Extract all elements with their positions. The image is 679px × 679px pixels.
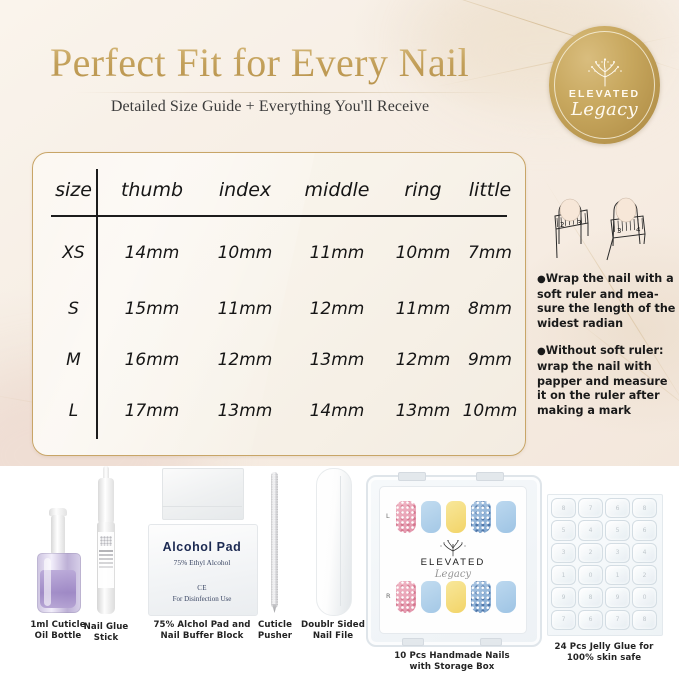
pusher-tip bbox=[272, 604, 277, 613]
bottle-gloss bbox=[44, 558, 51, 606]
cell-thumb: 16mm bbox=[109, 350, 195, 370]
nail-pink-floral bbox=[396, 581, 416, 613]
cell-middle: 12mm bbox=[291, 299, 383, 319]
size-chart-card: size thumb index middle ring little XS 1… bbox=[32, 152, 526, 456]
svg-text:2: 2 bbox=[560, 221, 564, 229]
size-table: size thumb index middle ring little XS 1… bbox=[33, 153, 525, 455]
box-interior: L bbox=[379, 486, 527, 634]
cell-ring: 13mm bbox=[387, 401, 459, 421]
nail-yellow bbox=[446, 581, 466, 613]
svg-text:3: 3 bbox=[617, 227, 621, 235]
row-label-left: L bbox=[386, 512, 390, 520]
svg-text:3: 3 bbox=[577, 219, 581, 227]
jelly-glue-tab: 5 bbox=[551, 520, 576, 540]
box-clip bbox=[402, 638, 424, 646]
jelly-glue-tab: 4 bbox=[632, 543, 657, 563]
column-header-little: little bbox=[457, 179, 523, 201]
table-row: XS 14mm 10mm 11mm 10mm 7mm bbox=[33, 228, 525, 278]
jelly-glue-tab: 3 bbox=[605, 543, 630, 563]
page-subtitle: Detailed Size Guide + Everything You'll … bbox=[0, 98, 540, 116]
cell-little: 9mm bbox=[457, 350, 523, 370]
nail-row-left bbox=[396, 501, 516, 533]
svg-text:4: 4 bbox=[636, 226, 641, 234]
product-jelly-glue-tabs: 876854563234101298907678 24 Pcs Jelly Gl… bbox=[539, 494, 669, 665]
botanical-sprig-icon bbox=[582, 57, 628, 87]
cell-thumb: 17mm bbox=[109, 401, 195, 421]
table-row: L 17mm 13mm 14mm 13mm 10mm bbox=[33, 386, 525, 436]
cell-index: 10mm bbox=[205, 243, 285, 263]
table-row: M 16mm 12mm 13mm 12mm 9mm bbox=[33, 335, 525, 385]
cell-middle: 11mm bbox=[291, 243, 383, 263]
jelly-glue-tab: 1 bbox=[605, 565, 630, 585]
cell-size: L bbox=[51, 401, 96, 421]
cell-middle: 13mm bbox=[291, 350, 383, 370]
file-body bbox=[316, 468, 352, 616]
bullet-dot-icon: ● bbox=[537, 346, 546, 357]
box-hinge bbox=[476, 472, 504, 481]
caption-line-2: 100% skin safe bbox=[567, 653, 641, 663]
column-header-size: size bbox=[51, 179, 96, 201]
cell-index: 11mm bbox=[205, 299, 285, 319]
bullet-2-line-3: papper and measure bbox=[537, 375, 668, 388]
box-clip bbox=[480, 638, 502, 646]
column-header-index: index bbox=[205, 179, 285, 201]
jelly-glue-tab: 6 bbox=[605, 498, 630, 518]
nail-light-blue bbox=[421, 581, 441, 613]
cell-thumb: 15mm bbox=[109, 299, 195, 319]
jelly-glue-tab: 6 bbox=[632, 520, 657, 540]
bullet-1-line-2: soft ruler and mea- bbox=[537, 288, 659, 301]
column-header-thumb: thumb bbox=[109, 179, 195, 201]
product-infographic: Perfect Fit for Every Nail Detailed Size… bbox=[0, 0, 679, 679]
page-title: Perfect Fit for Every Nail bbox=[50, 40, 520, 86]
table-header-row: size thumb index middle ring little bbox=[33, 165, 525, 215]
cell-index: 13mm bbox=[205, 401, 285, 421]
jelly-glue-tab: 7 bbox=[551, 610, 576, 630]
caption-line-2: with Storage Box bbox=[410, 662, 495, 672]
whats-included-section: 1ml Cuticle Oil Bottle Nail Glue Stick bbox=[0, 466, 679, 679]
jelly-glue-tab: 2 bbox=[632, 565, 657, 585]
pen-cap bbox=[98, 478, 114, 524]
bullet-2-line-4: it on the ruler after bbox=[537, 389, 660, 402]
cell-little: 7mm bbox=[457, 243, 523, 263]
caption-line-1: 10 Pcs Handmade Nails bbox=[394, 651, 510, 661]
box-brand-name: ELEVATED bbox=[380, 557, 526, 568]
bullet-1-line-4: widest radian bbox=[537, 317, 623, 330]
instruction-bullet-2: ●Without soft ruler: wrap the nail with … bbox=[537, 344, 677, 418]
buffer-seam bbox=[162, 506, 242, 507]
jelly-glue-tab: 6 bbox=[578, 610, 603, 630]
size-guide-section: Perfect Fit for Every Nail Detailed Size… bbox=[0, 0, 679, 466]
brand-logo-badge: ELEVATED Legacy bbox=[549, 26, 660, 144]
cell-middle: 14mm bbox=[291, 401, 383, 421]
jelly-glue-tab: 7 bbox=[578, 498, 603, 518]
box-brand-script: Legacy bbox=[380, 569, 526, 580]
title-divider bbox=[75, 92, 505, 93]
bullet-1-line-3: sure the length of the bbox=[537, 302, 675, 315]
cell-little: 10mm bbox=[457, 401, 523, 421]
nail-blue-floral bbox=[471, 501, 491, 533]
cell-size: M bbox=[51, 350, 96, 370]
pen-label-text-lines bbox=[99, 550, 113, 552]
jelly-glue-tab: 8 bbox=[632, 610, 657, 630]
product-handmade-nails-storage-box: L bbox=[366, 475, 538, 674]
cell-thumb: 14mm bbox=[109, 243, 195, 263]
jelly-glue-tab: 9 bbox=[605, 587, 630, 607]
nail-row-right bbox=[396, 581, 516, 613]
instruction-bullet-1: ●Wrap the nail with a soft ruler and mea… bbox=[537, 272, 677, 331]
jelly-glue-sheet-image: 876854563234101298907678 bbox=[547, 494, 661, 634]
cuticle-pusher-image bbox=[265, 466, 285, 614]
finger-measure-diagram: 2 3 3 4 bbox=[541, 186, 671, 264]
nail-yellow bbox=[446, 501, 466, 533]
nail-blue-floral bbox=[471, 581, 491, 613]
cell-little: 8mm bbox=[457, 299, 523, 319]
jelly-glue-tab: 0 bbox=[632, 587, 657, 607]
bullet-2-line-2: wrap the nail with bbox=[537, 360, 652, 373]
nail-pink-floral bbox=[396, 501, 416, 533]
bullet-2-line-1: Without soft ruler: bbox=[546, 344, 664, 357]
storage-box-image: L bbox=[366, 475, 538, 643]
jelly-glue-tab: 4 bbox=[578, 520, 603, 540]
jelly-glue-tab: 8 bbox=[578, 587, 603, 607]
cell-size: S bbox=[51, 299, 96, 319]
measure-instructions: ●Wrap the nail with a soft ruler and mea… bbox=[537, 272, 677, 431]
jelly-glue-tab: 3 bbox=[551, 543, 576, 563]
nail-light-blue bbox=[421, 501, 441, 533]
pusher-glitter-texture bbox=[271, 472, 278, 608]
jelly-glue-tab: 5 bbox=[605, 520, 630, 540]
cell-ring: 12mm bbox=[387, 350, 459, 370]
bullet-dot-icon: ● bbox=[537, 274, 546, 285]
jelly-glue-tab: 1 bbox=[551, 565, 576, 585]
bullet-2-line-5: making a mark bbox=[537, 404, 631, 417]
column-header-ring: ring bbox=[387, 179, 459, 201]
jelly-glue-tab: 9 bbox=[551, 587, 576, 607]
cell-ring: 11mm bbox=[387, 299, 459, 319]
caption-line-1: Doublr Sided bbox=[301, 620, 365, 630]
caption-line-2: Nail File bbox=[313, 631, 353, 641]
jelly-glue-tab: 2 bbox=[578, 543, 603, 563]
cell-ring: 10mm bbox=[387, 243, 459, 263]
jelly-glue-tab: 0 bbox=[578, 565, 603, 585]
file-edge bbox=[340, 476, 341, 606]
nail-glue-stick-image bbox=[93, 466, 119, 616]
cell-index: 12mm bbox=[205, 350, 285, 370]
nail-light-blue bbox=[496, 501, 516, 533]
jelly-glue-tab: 8 bbox=[632, 498, 657, 518]
column-header-middle: middle bbox=[291, 179, 383, 201]
nail-file-image bbox=[312, 468, 354, 614]
pen-label-logo-icon bbox=[100, 536, 112, 546]
cell-size: XS bbox=[51, 243, 96, 263]
table-row: S 15mm 11mm 12mm 11mm 8mm bbox=[33, 284, 525, 334]
table-header-divider bbox=[51, 215, 507, 217]
jelly-glue-tab: 7 bbox=[605, 610, 630, 630]
jelly-glue-tab: 8 bbox=[551, 498, 576, 518]
bullet-1-line-1: Wrap the nail with a bbox=[546, 272, 674, 285]
row-label-right: R bbox=[386, 592, 391, 600]
logo-brand-script: Legacy bbox=[571, 99, 638, 120]
jelly-tab-grid: 876854563234101298907678 bbox=[551, 498, 657, 630]
nail-light-blue bbox=[496, 581, 516, 613]
box-hinge bbox=[398, 472, 426, 481]
caption-line-1: 24 Pcs Jelly Glue for bbox=[555, 642, 654, 652]
caption-line-2: Stick bbox=[94, 633, 119, 643]
